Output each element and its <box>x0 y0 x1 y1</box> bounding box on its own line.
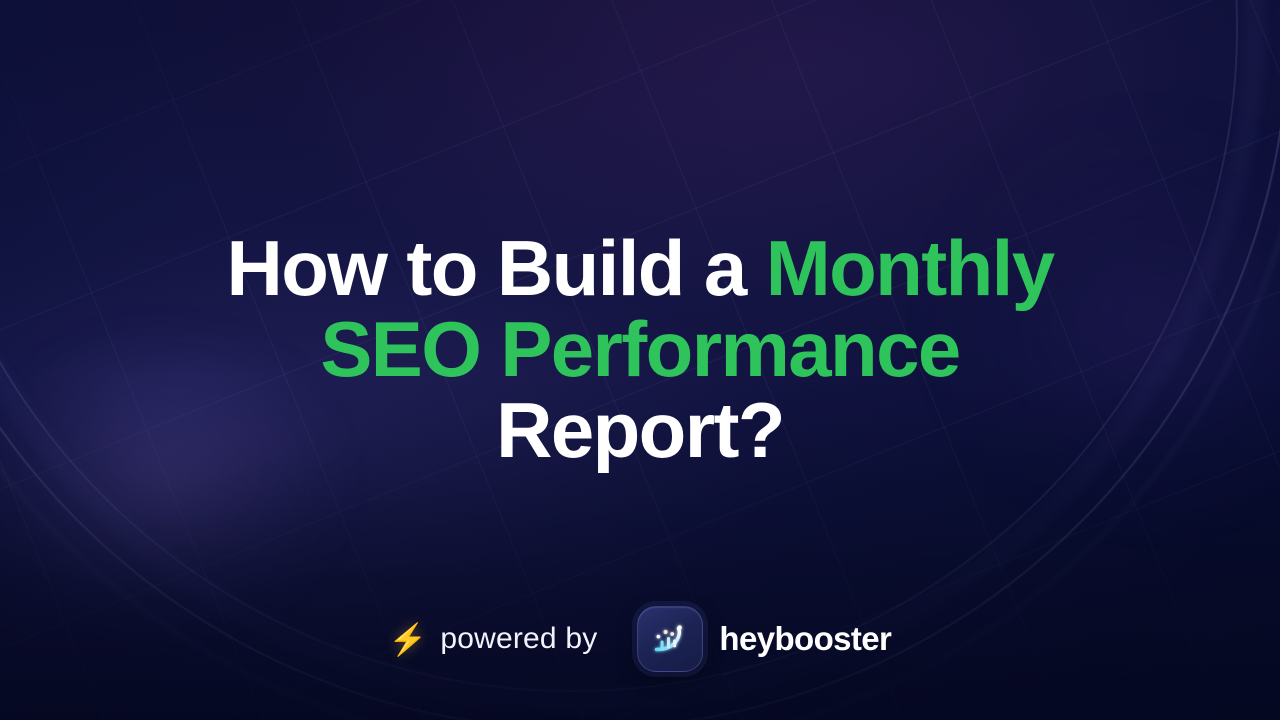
page-title: How to Build a Monthly SEO Performance R… <box>110 228 1170 471</box>
headline-accent-1: Monthly <box>766 224 1054 312</box>
powered-by-footer: ⚡ powered by <box>0 606 1280 672</box>
heybooster-logo-icon <box>650 619 690 659</box>
powered-by-label: powered by <box>440 622 597 656</box>
brand-lockup[interactable]: heybooster <box>637 606 891 672</box>
headline-line-1: How to Build a Monthly <box>110 228 1170 309</box>
cover-content: How to Build a Monthly SEO Performance R… <box>0 0 1280 720</box>
headline-line-2: SEO Performance <box>110 309 1170 390</box>
cover-canvas: How to Build a Monthly SEO Performance R… <box>0 0 1280 720</box>
lightning-bolt-icon: ⚡ <box>389 624 428 655</box>
brand-name-label: heybooster <box>719 620 891 658</box>
heybooster-logo-badge[interactable] <box>637 606 703 672</box>
headline-line-3: Report? <box>110 390 1170 471</box>
powered-by-group: ⚡ powered by <box>389 622 598 656</box>
headline-plain-1: How to Build a <box>226 224 765 312</box>
